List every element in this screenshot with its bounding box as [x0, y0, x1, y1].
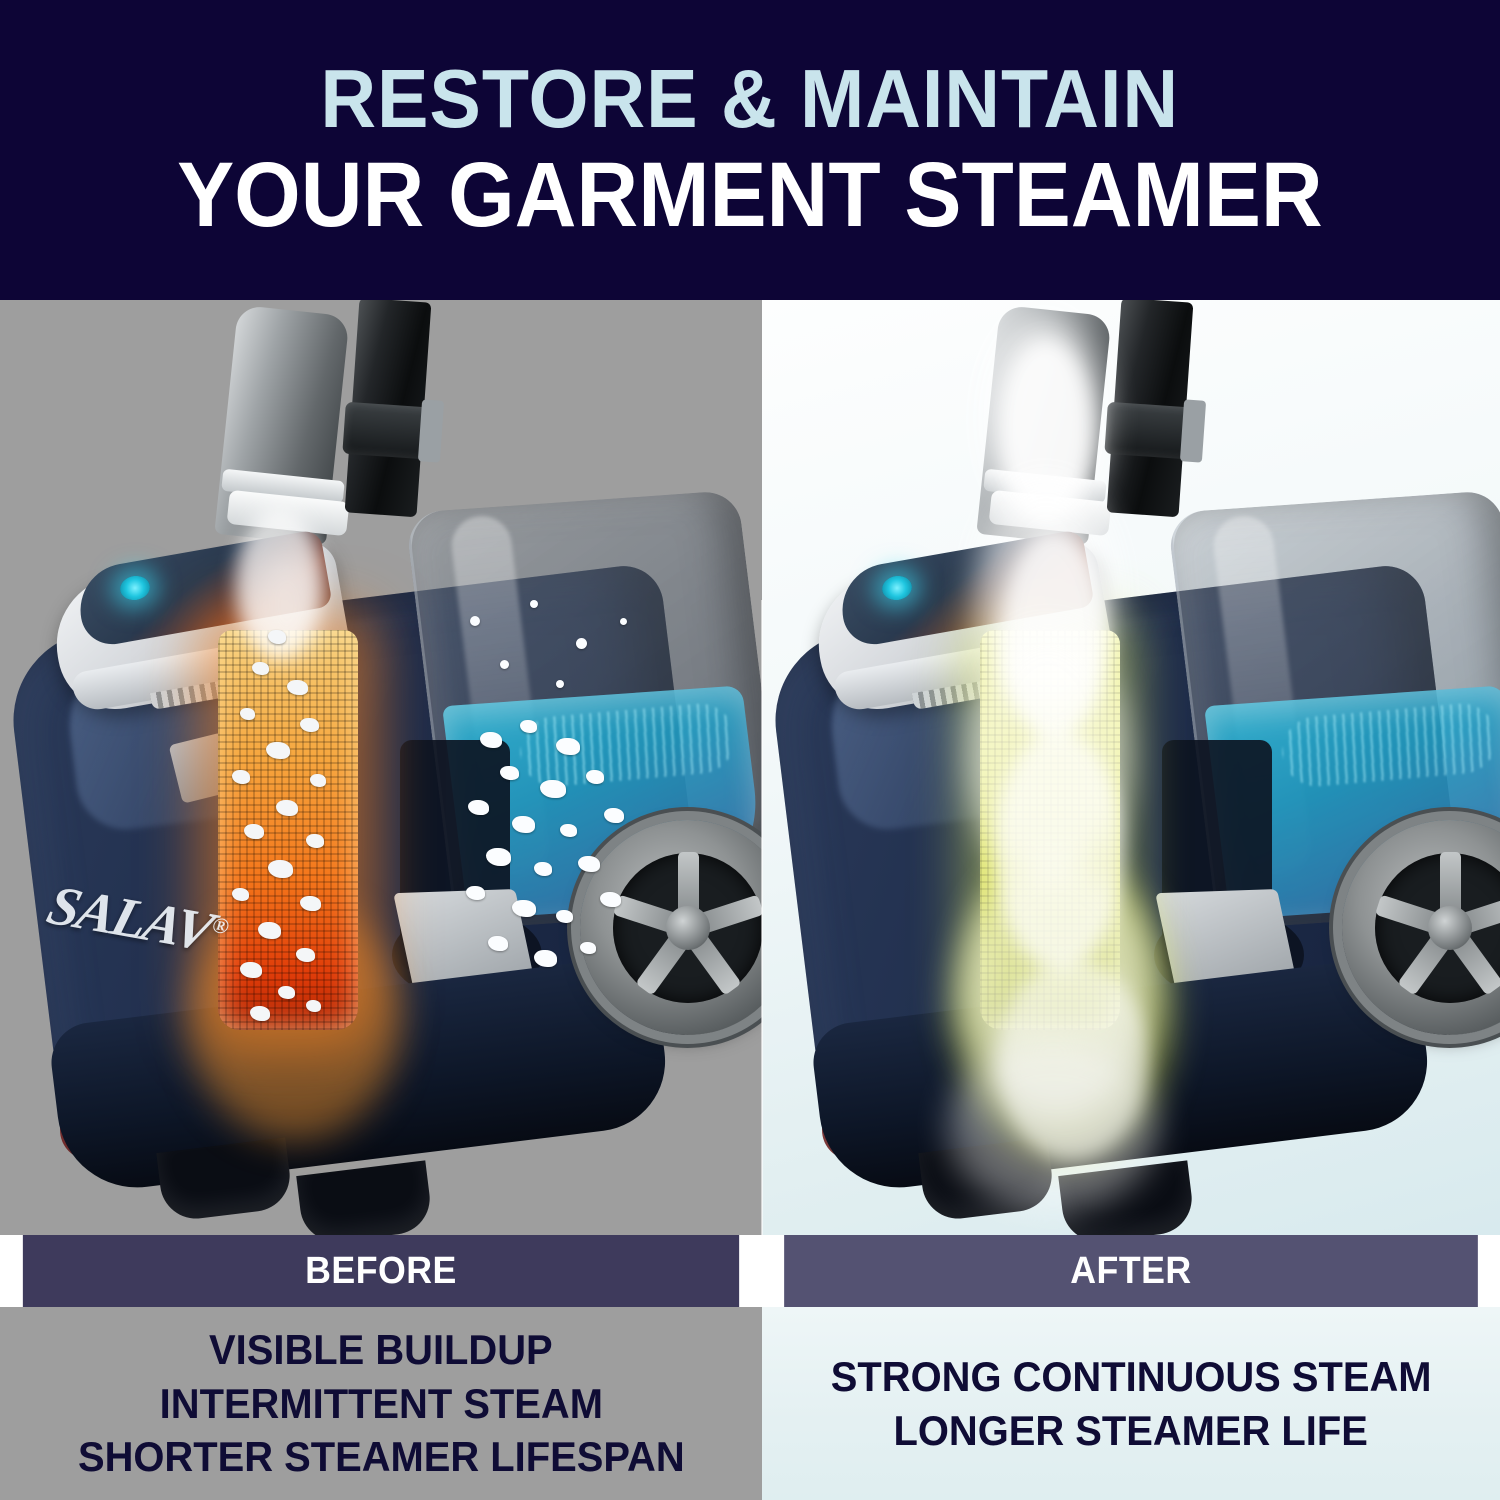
- scale-flake: [287, 680, 308, 695]
- tank-scale-flake: [488, 936, 508, 951]
- tank-scale-flake: [534, 862, 552, 876]
- tank-bubble: [470, 616, 480, 626]
- tank-scale-flake: [540, 780, 566, 798]
- tank-bubble: [576, 638, 587, 649]
- caption-before-line-1: VISIBLE BUILDUP: [209, 1323, 553, 1377]
- before-product-scene: SALAV®: [0, 300, 762, 1235]
- scale-flake: [268, 630, 286, 644]
- product-comparison-infographic: RESTORE & MAINTAIN YOUR GARMENT STEAMER: [0, 0, 1500, 1500]
- scale-flake: [244, 824, 264, 839]
- caption-after-line-2: LONGER STEAMER LIFE: [894, 1404, 1368, 1458]
- caption-after-line-1: STRONG CONTINUOUS STEAM: [831, 1350, 1432, 1404]
- caption-before-line-3: SHORTER STEAMER LIFESPAN: [78, 1430, 685, 1484]
- tank-scale-flake: [600, 892, 621, 907]
- scale-flake: [232, 888, 249, 901]
- caption-before: VISIBLE BUILDUP INTERMITTENT STEAM SHORT…: [0, 1307, 762, 1500]
- scale-flake: [296, 948, 315, 962]
- tank-scale-flake: [586, 770, 604, 784]
- caption-before-line-2: INTERMITTENT STEAM: [159, 1377, 602, 1431]
- after-image-pane: [762, 300, 1500, 1235]
- tank-scale-flake: [512, 900, 536, 917]
- headline-primary: RESTORE & MAINTAIN: [321, 57, 1180, 142]
- tank-scale-flake: [466, 886, 485, 900]
- tank-scale-flake: [534, 950, 557, 967]
- scale-flake: [310, 774, 326, 787]
- tank-scale-flake: [556, 738, 580, 755]
- scale-flake: [240, 708, 255, 720]
- scale-flake: [232, 770, 250, 784]
- header-banner: RESTORE & MAINTAIN YOUR GARMENT STEAMER: [0, 0, 1500, 300]
- tank-scale-flake: [468, 800, 489, 815]
- after-product-scene: [762, 300, 1500, 1235]
- tank-bubble: [530, 600, 538, 608]
- scale-flake: [306, 1000, 321, 1012]
- caption-after: STRONG CONTINUOUS STEAM LONGER STEAMER L…: [762, 1307, 1500, 1500]
- tank-scale-flake: [480, 732, 502, 748]
- wheel-inner: [1375, 853, 1500, 1003]
- scale-flake: [276, 800, 298, 816]
- scale-flake: [240, 962, 262, 978]
- tank-scale-flake: [512, 816, 535, 833]
- scale-flake: [278, 986, 295, 999]
- panel-label-bar: BEFORE AFTER: [0, 1235, 1500, 1307]
- scale-flake: [258, 922, 281, 939]
- before-image-pane: SALAV®: [0, 300, 762, 1235]
- scale-flake: [266, 742, 290, 759]
- tank-bubble: [556, 680, 564, 688]
- pole-tab: [1180, 399, 1206, 462]
- tank-scale-flake: [580, 942, 596, 954]
- comparison-stage: SALAV®: [0, 300, 1500, 1235]
- mineral-scale-flakes-group: [0, 300, 762, 1235]
- panel-captions: VISIBLE BUILDUP INTERMITTENT STEAM SHORT…: [0, 1307, 1500, 1500]
- wheel-hub: [1428, 906, 1472, 950]
- steam-plume: [948, 1042, 1158, 1212]
- tank-scale-flake: [520, 720, 537, 733]
- label-before: BEFORE: [23, 1235, 739, 1307]
- scale-flake: [300, 718, 319, 732]
- tank-scale-flake: [560, 824, 577, 837]
- tank-scale-flake: [578, 856, 600, 872]
- scale-flake: [252, 662, 269, 675]
- headline-secondary: YOUR GARMENT STEAMER: [177, 149, 1323, 243]
- tank-scale-flake: [604, 808, 624, 823]
- tank-bubble: [620, 618, 627, 625]
- tank-scale-flake: [500, 766, 519, 780]
- label-after: AFTER: [784, 1235, 1478, 1307]
- scale-flake: [268, 860, 293, 878]
- tank-scale-flake: [486, 848, 511, 866]
- scale-flake: [250, 1006, 270, 1021]
- scale-flake: [306, 834, 324, 848]
- tank-bubble: [500, 660, 509, 669]
- scale-flake: [300, 896, 321, 911]
- tank-scale-flake: [556, 910, 573, 923]
